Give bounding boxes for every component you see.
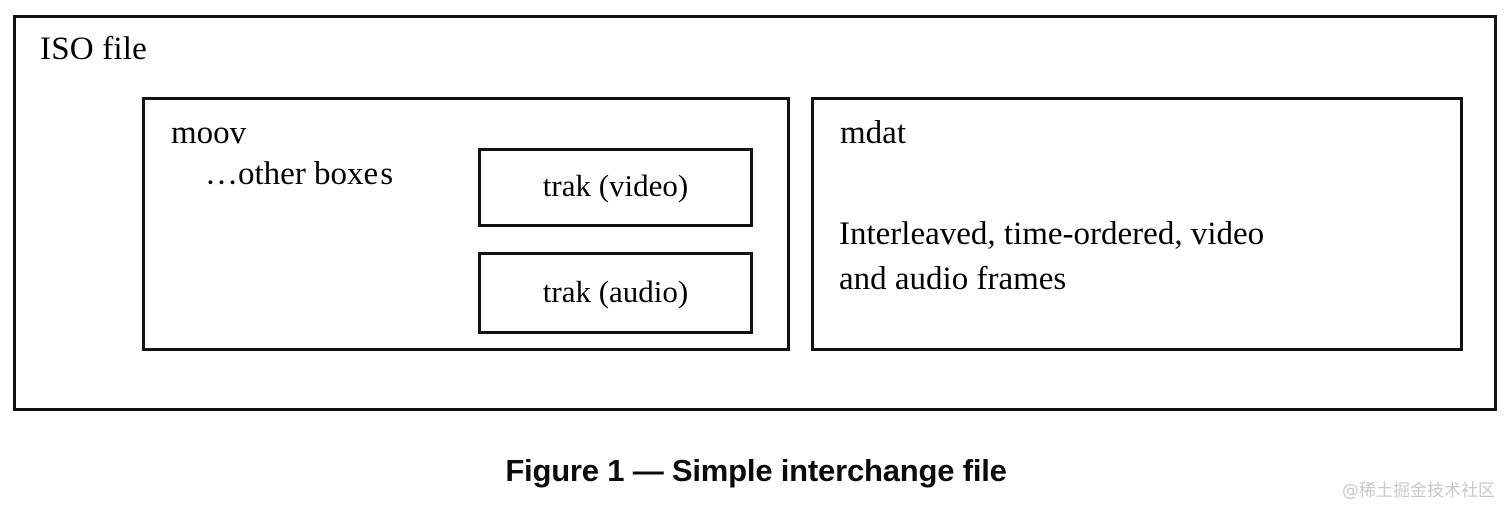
iso-file-label: ISO file	[40, 32, 147, 67]
trak-video-label: trak (video)	[543, 170, 688, 203]
figure-root: ISO file moov …other boxes trak (video) …	[0, 0, 1512, 513]
moov-box: moov …other boxes trak (video) trak (aud…	[142, 97, 790, 351]
other-boxes-text: …other boxe	[205, 156, 378, 192]
watermark: @稀土掘金技术社区	[1342, 483, 1495, 500]
trak-video-box: trak (video)	[478, 148, 753, 227]
iso-file-box: ISO file moov …other boxes trak (video) …	[13, 15, 1497, 411]
mdat-label: mdat	[840, 116, 906, 151]
other-boxes-text-tail: s	[380, 156, 393, 192]
mdat-description-line-1: Interleaved, time-ordered, video	[839, 212, 1439, 257]
trak-audio-box: trak (audio)	[478, 252, 753, 334]
figure-caption: Figure 1 — Simple interchange file	[0, 452, 1512, 489]
mdat-description: Interleaved, time-ordered, video and aud…	[839, 212, 1439, 302]
mdat-box: mdat Interleaved, time-ordered, video an…	[811, 97, 1463, 351]
trak-audio-label: trak (audio)	[543, 276, 688, 309]
mdat-description-line-2: and audio frames	[839, 257, 1439, 302]
other-boxes-label: …other boxes	[205, 157, 393, 192]
moov-label: moov	[171, 116, 246, 151]
